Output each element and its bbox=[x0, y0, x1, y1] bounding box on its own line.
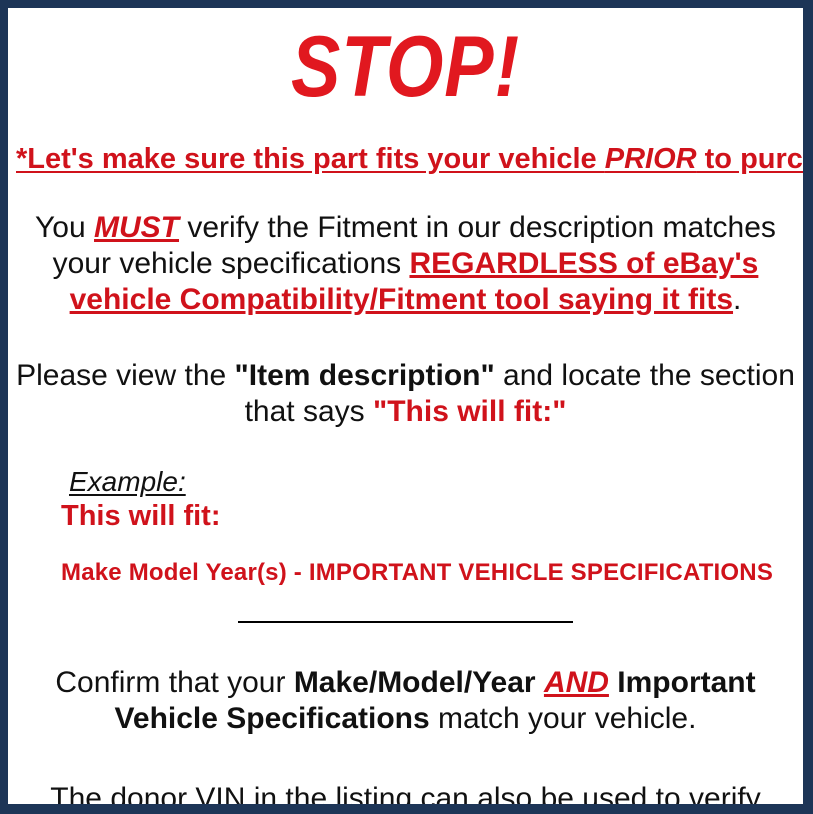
confirm-bold-make-model-year: Make/Model/Year bbox=[294, 666, 536, 699]
example-block: Example: This will fit: Make Model Year(… bbox=[16, 466, 795, 587]
paragraph-donor-vin: The donor VIN in the listing can also be… bbox=[16, 781, 795, 814]
example-fit-heading: This will fit: bbox=[61, 500, 795, 533]
subtitle-emphasis-prior: PRIOR bbox=[605, 143, 697, 175]
notice-body: STOP! *Let's make sure this part fits yo… bbox=[8, 24, 803, 814]
confirm-tail: match your vehicle. bbox=[430, 702, 697, 735]
page-title-text: STOP! bbox=[71, 24, 741, 110]
paragraph-confirm-match: Confirm that your Make/Model/Year AND Im… bbox=[16, 665, 795, 737]
view-bold-quote: "Item description" bbox=[235, 359, 495, 392]
subtitle-after: to purchasing* bbox=[697, 143, 813, 175]
paragraph-must-verify: You MUST verify the Fitment in our descr… bbox=[16, 210, 795, 318]
subtitle-banner: *Let's make sure this part fits your veh… bbox=[16, 144, 795, 176]
example-spec-line: Make Model Year(s) - IMPORTANT VEHICLE S… bbox=[61, 559, 795, 587]
example-label: Example: bbox=[69, 466, 186, 498]
fitment-notice-card: STOP! *Let's make sure this part fits yo… bbox=[0, 0, 813, 814]
section-divider-wrap bbox=[16, 613, 795, 631]
subtitle-before: *Let's make sure this part fits your veh… bbox=[16, 143, 605, 175]
section-divider bbox=[238, 621, 573, 623]
must-lead: You bbox=[35, 211, 94, 244]
page-title: STOP! bbox=[16, 24, 795, 110]
paragraph-item-description: Please view the "Item description" and l… bbox=[16, 358, 795, 430]
view-red-quote: "This will fit:" bbox=[373, 395, 566, 428]
confirm-lead: Confirm that your bbox=[55, 666, 293, 699]
must-emphasis: MUST bbox=[94, 211, 179, 244]
confirm-conjunction-and: AND bbox=[544, 666, 609, 699]
view-lead: Please view the bbox=[16, 359, 234, 392]
must-tail: . bbox=[733, 283, 741, 316]
